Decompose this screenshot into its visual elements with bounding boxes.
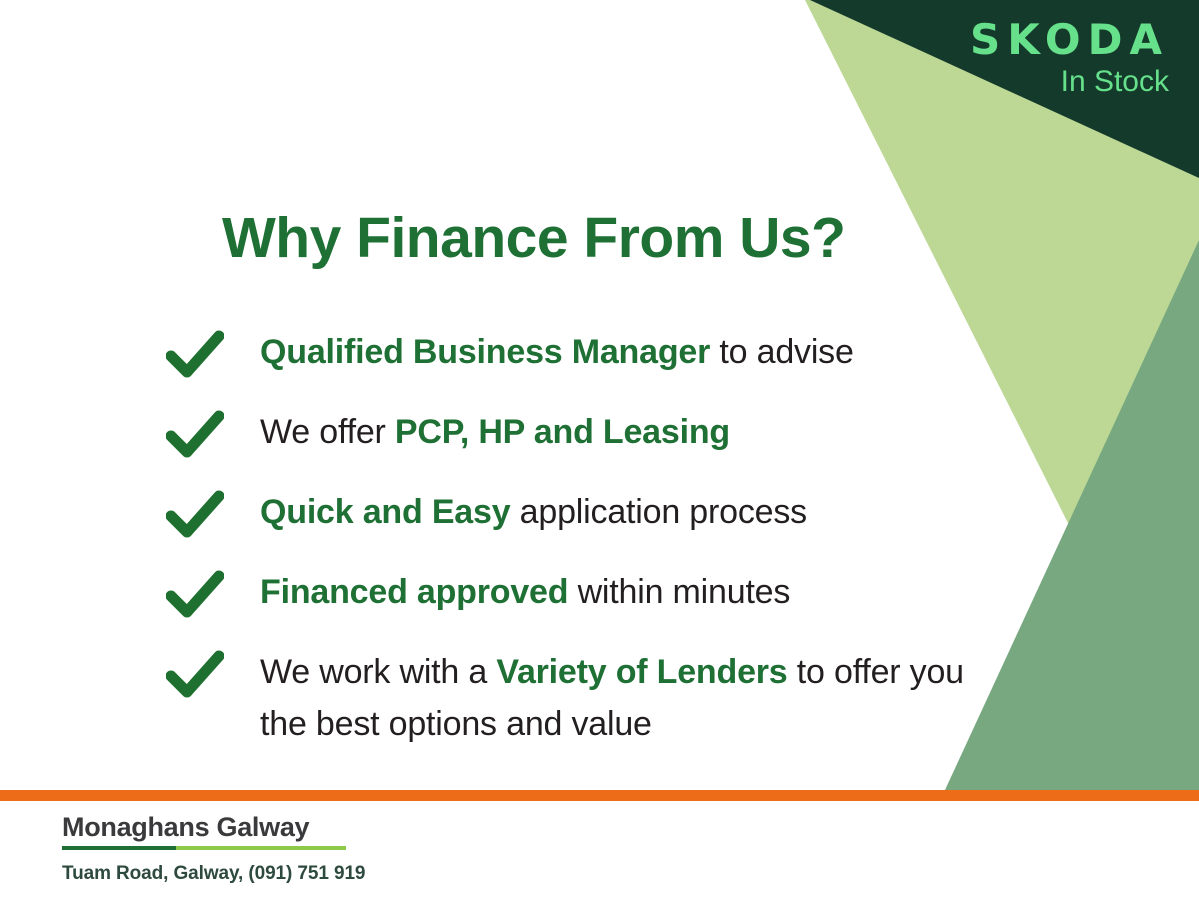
plain-text: within minutes (568, 573, 790, 611)
dealer-underline (62, 846, 346, 850)
skoda-subtitle: In Stock (970, 64, 1169, 100)
dealer-address: Tuam Road, Galway, (091) 751 919 (62, 863, 365, 885)
check-icon (166, 409, 224, 461)
list-item: Financed approved within minutes (166, 567, 996, 621)
list-item: Quick and Easy application process (166, 487, 996, 541)
benefits-list: Qualified Business Manager to adviseWe o… (166, 327, 996, 776)
list-item-label: Quick and Easy application process (260, 487, 807, 539)
dealer-name: Monaghans Galway (62, 812, 365, 843)
list-item-label: We offer PCP, HP and Leasing (260, 407, 730, 459)
check-icon (166, 329, 224, 381)
emphasis-text: Quick and Easy (260, 493, 510, 531)
list-item-label: We work with a Variety of Lenders to off… (260, 647, 996, 750)
plain-text: We work with a (260, 653, 496, 691)
dealer-footer: Monaghans Galway Tuam Road, Galway, (091… (62, 812, 365, 885)
plain-text: application process (510, 493, 807, 531)
check-icon (166, 649, 224, 701)
underline-dark-segment (62, 846, 176, 850)
orange-divider (0, 790, 1199, 801)
check-icon (166, 489, 224, 541)
emphasis-text: PCP, HP and Leasing (395, 413, 730, 451)
emphasis-text: Qualified Business Manager (260, 333, 710, 371)
underline-light-segment (176, 846, 346, 850)
page-title: Why Finance From Us? (222, 205, 845, 271)
list-item: We work with a Variety of Lenders to off… (166, 647, 996, 750)
list-item-label: Financed approved within minutes (260, 567, 790, 619)
plain-text: We offer (260, 413, 395, 451)
plain-text: to advise (710, 333, 854, 371)
slide-canvas: SKODA In Stock Why Finance From Us? Qual… (0, 0, 1199, 900)
emphasis-text: Financed approved (260, 573, 568, 611)
list-item-label: Qualified Business Manager to advise (260, 327, 854, 379)
emphasis-text: Variety of Lenders (496, 653, 787, 691)
skoda-wordmark: SKODA (970, 18, 1169, 62)
check-icon (166, 569, 224, 621)
brand-block: SKODA In Stock (970, 18, 1169, 100)
list-item: We offer PCP, HP and Leasing (166, 407, 996, 461)
list-item: Qualified Business Manager to advise (166, 327, 996, 381)
